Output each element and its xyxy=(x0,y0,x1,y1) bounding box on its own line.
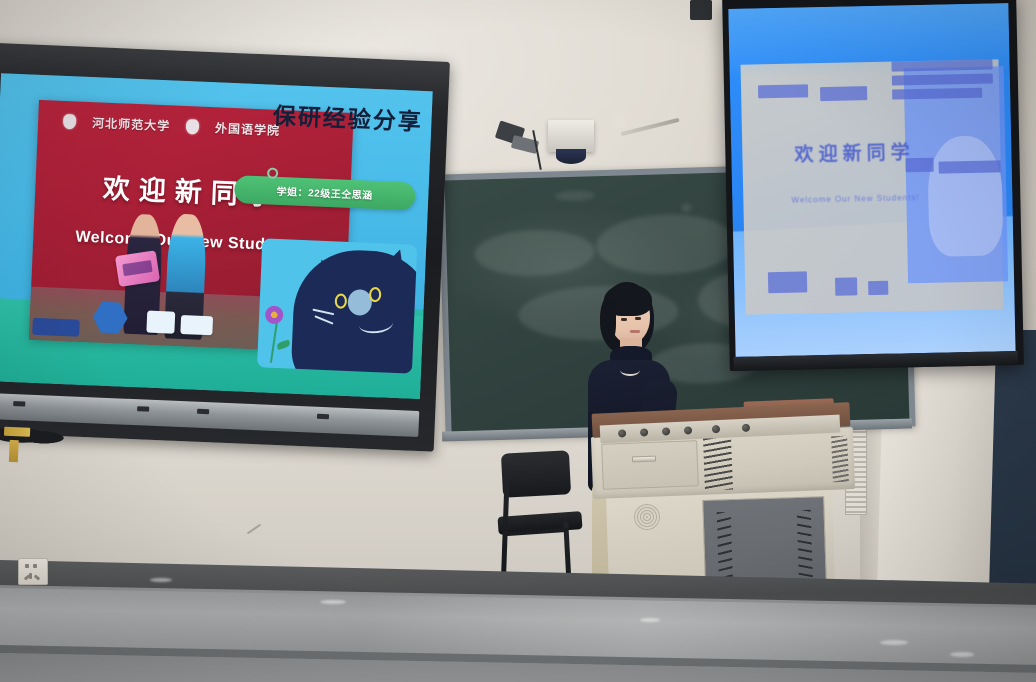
slide-cat-illustration xyxy=(257,238,418,374)
flower-stem-icon xyxy=(270,319,278,363)
display-button-1[interactable] xyxy=(13,401,25,406)
slide-speaker-badge-text: 学姐：22级王仝思涵 xyxy=(276,187,373,202)
lectern-side-vent-right xyxy=(831,436,849,483)
chair-backrest xyxy=(501,450,571,497)
wall-power-outlet-icon[interactable] xyxy=(18,558,48,585)
lectern-knob-6[interactable] xyxy=(742,424,750,432)
lectern-drawer[interactable] xyxy=(601,440,699,490)
lectern-side-vent-left xyxy=(703,437,733,490)
lectern-knob-4[interactable] xyxy=(684,426,692,434)
lectern-knob-1[interactable] xyxy=(618,429,626,437)
smart-display-bezel: 河北师范大学 外国语学院 欢迎新同学 Welcome Our New Stude… xyxy=(0,42,450,451)
display-button-2[interactable] xyxy=(137,406,149,411)
lectern-drawer-handle[interactable] xyxy=(632,456,656,463)
display-button-4[interactable] xyxy=(317,414,329,419)
projected-slide-title: 欢迎新同学 xyxy=(787,137,922,167)
projection-glare xyxy=(728,3,1009,78)
photo-prop-card-1 xyxy=(146,311,175,334)
smart-display[interactable]: 河北师范大学 外国语学院 欢迎新同学 Welcome Our New Stude… xyxy=(0,42,450,451)
lectern-knob-2[interactable] xyxy=(640,428,648,436)
wall-mount-bracket xyxy=(690,0,712,20)
surveillance-camera-icon xyxy=(548,120,594,152)
display-button-3[interactable] xyxy=(197,409,209,414)
projection-screen[interactable]: 欢迎新同学 Welcome Our New Students! xyxy=(722,0,1024,371)
flower-head-icon xyxy=(265,306,284,325)
classroom-scene: 欢迎新同学 Welcome Our New Students! xyxy=(0,0,1036,682)
lectern-knob-5[interactable] xyxy=(712,425,720,433)
wall-light-head xyxy=(612,115,626,128)
cable-tape-strap xyxy=(9,440,19,462)
university-name: 河北师范大学 xyxy=(92,114,171,134)
cable-tape-marker xyxy=(4,427,30,437)
flower-leaf-icon xyxy=(276,339,290,349)
camera-dome-lens xyxy=(556,149,586,164)
badge-clip-icon xyxy=(267,168,278,179)
presenter-mouth xyxy=(630,330,640,333)
photo-prop-card-2 xyxy=(181,315,213,336)
photo-pink-sign xyxy=(115,250,160,287)
college-crest-icon xyxy=(186,119,200,135)
presenter-necklace xyxy=(620,364,640,376)
projection-screen-frame: 欢迎新同学 Welcome Our New Students! xyxy=(722,0,1024,371)
projection-screen-surface: 欢迎新同学 Welcome Our New Students! xyxy=(728,3,1015,357)
photo-blue-tag xyxy=(32,318,80,337)
smart-display-screen[interactable]: 河北师范大学 外国语学院 欢迎新同学 Welcome Our New Stude… xyxy=(0,73,433,399)
presenter-hair-side xyxy=(602,298,616,342)
lectern-knob-3[interactable] xyxy=(662,427,670,435)
university-crest-icon xyxy=(63,114,77,130)
